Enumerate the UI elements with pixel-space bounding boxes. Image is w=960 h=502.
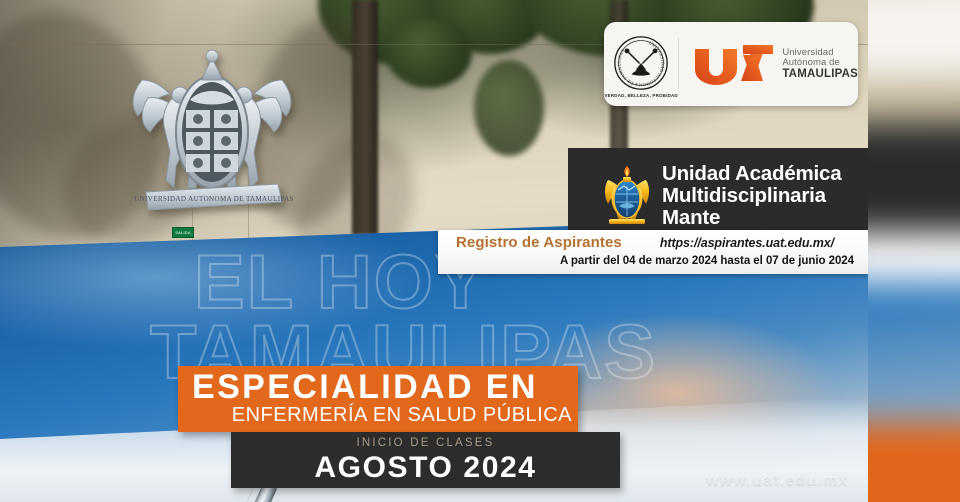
program-subtitle: ENFERMERÍA EN SALUD PÚBLICA xyxy=(178,404,572,427)
uat-coat-of-arms-relief: UNIVERSIDAD AUTONOMA DE TAMAULIPAS xyxy=(118,40,306,230)
site-url-watermark: www.uat.edu.mx xyxy=(706,472,848,490)
university-seal: UNIVERSIDAD AUTONOMA DE TAMAULIPAS VERDA… xyxy=(604,22,678,106)
seal-motto: VERDAD, BELLEZA, PROBIDAD xyxy=(605,93,678,98)
registration-info-strip: Registro de Aspirantes https://aspirante… xyxy=(438,230,868,274)
uat-brand: Universidad Autónoma de TAMAULIPAS xyxy=(679,43,858,85)
poster-artwork: SALIDA xyxy=(0,0,868,502)
uat-word-line3: TAMAULIPAS xyxy=(782,68,858,80)
svg-text:UNIVERSIDAD AUTONOMA DE TAMAUL: UNIVERSIDAD AUTONOMA DE TAMAULIPAS xyxy=(134,195,294,203)
uat-logo-card: UNIVERSIDAD AUTONOMA DE TAMAULIPAS VERDA… xyxy=(604,22,858,106)
mante-coat-of-arms-icon xyxy=(602,164,652,228)
unit-line-1: Unidad Académica xyxy=(662,163,841,185)
uat-logotype-icon xyxy=(691,43,775,85)
uat-wordmark: Universidad Autónoma de TAMAULIPAS xyxy=(782,48,858,80)
registration-dates: A partir del 04 de marzo 2024 hasta el 0… xyxy=(438,255,854,267)
exit-sign-label: SALIDA xyxy=(175,230,190,235)
foliage-icon xyxy=(474,60,544,156)
start-date-value: AGOSTO 2024 xyxy=(231,451,620,485)
promotional-banner: SALIDA xyxy=(0,0,960,502)
uat-word-line2: Autónoma de xyxy=(782,58,858,68)
program-title: ESPECIALIDAD EN xyxy=(192,368,538,407)
registration-header-row: Registro de Aspirantes https://aspirante… xyxy=(456,234,858,251)
unit-line-3: Mante xyxy=(662,207,841,229)
foliage-icon xyxy=(386,18,472,88)
unit-line-2: Multidisciplinaria xyxy=(662,185,841,207)
start-date-band: INICIO DE CLASES AGOSTO 2024 xyxy=(231,432,620,488)
registration-url[interactable]: https://aspirantes.uat.edu.mx/ xyxy=(660,236,834,250)
program-title-band: ESPECIALIDAD EN ENFERMERÍA EN SALUD PÚBL… xyxy=(178,366,578,432)
academic-unit-name: Unidad Académica Multidisciplinaria Mant… xyxy=(662,163,841,228)
start-date-label: INICIO DE CLASES xyxy=(231,437,620,449)
registration-title: Registro de Aspirantes xyxy=(456,234,622,251)
